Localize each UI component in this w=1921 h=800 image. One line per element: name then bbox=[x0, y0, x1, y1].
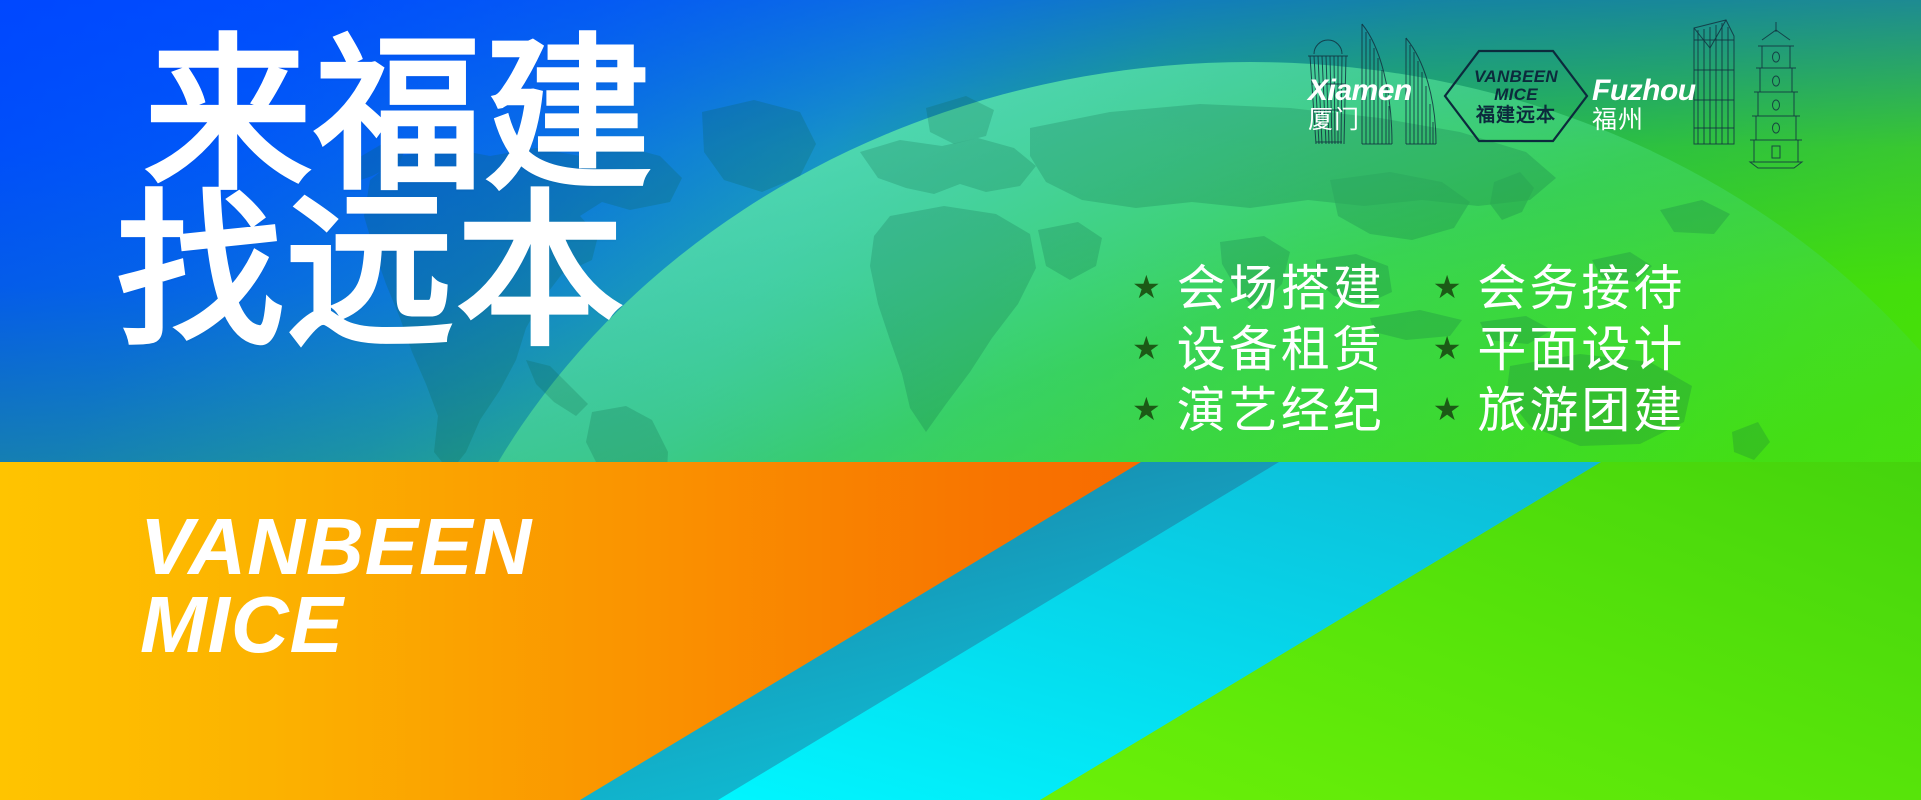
service-label-5: 演艺经纪 bbox=[1177, 384, 1385, 439]
city-xiamen-cn: 厦门 bbox=[1308, 108, 1412, 133]
city-logo-strip: Xiamen 厦门 VANBEEN MICE 福建远本 Fuzhou 福州 bbox=[1300, 6, 1860, 174]
promo-banner: 来福建 找远本 bbox=[0, 0, 1921, 800]
service-item-1: ★ 会场搭建 bbox=[1132, 262, 1385, 317]
services-list: ★ 会场搭建 ★ 会务接待 ★ 设备租赁 ★ 平面设计 ★ 演艺经纪 ★ 旅游团… bbox=[1132, 262, 1685, 439]
service-label-3: 设备租赁 bbox=[1177, 323, 1385, 378]
star-icon: ★ bbox=[1433, 393, 1462, 425]
service-label-6: 旅游团建 bbox=[1477, 384, 1685, 439]
headline: 来福建 找远本 bbox=[116, 38, 654, 350]
hex-line-3: 福建远本 bbox=[1476, 106, 1556, 125]
bottom-brand-band: VANBEEN MICE bbox=[0, 462, 1921, 800]
city-fuzhou-en: Fuzhou bbox=[1592, 76, 1696, 106]
service-item-3: ★ 设备租赁 bbox=[1132, 323, 1385, 378]
city-xiamen-en: Xiamen bbox=[1308, 76, 1412, 106]
city-label-xiamen: Xiamen 厦门 bbox=[1308, 76, 1412, 133]
city-fuzhou-cn: 福州 bbox=[1592, 108, 1696, 133]
star-icon: ★ bbox=[1132, 332, 1161, 364]
star-icon: ★ bbox=[1433, 332, 1462, 364]
star-icon: ★ bbox=[1132, 393, 1161, 425]
hex-line-1: VANBEEN bbox=[1474, 68, 1558, 85]
brand-wordmark: VANBEEN MICE bbox=[140, 510, 532, 663]
star-icon: ★ bbox=[1132, 271, 1161, 303]
hex-line-2: MICE bbox=[1494, 86, 1538, 103]
hexagon-logo-text: VANBEEN MICE 福建远本 bbox=[1442, 48, 1590, 144]
service-item-5: ★ 演艺经纪 bbox=[1132, 384, 1385, 439]
service-label-1: 会场搭建 bbox=[1177, 262, 1385, 317]
headline-line-2: 找远本 bbox=[116, 194, 654, 350]
fuzhou-tower-icon bbox=[1694, 20, 1734, 144]
vanbeen-hexagon-logo: VANBEEN MICE 福建远本 bbox=[1442, 48, 1590, 144]
service-item-6: ★ 旅游团建 bbox=[1433, 384, 1686, 439]
star-icon: ★ bbox=[1433, 271, 1462, 303]
service-label-2: 会务接待 bbox=[1477, 262, 1685, 317]
banner-main-stage: 来福建 找远本 bbox=[0, 0, 1921, 462]
headline-line-1: 来福建 bbox=[116, 38, 654, 194]
service-item-2: ★ 会务接待 bbox=[1433, 262, 1686, 317]
brand-line-2: MICE bbox=[140, 588, 532, 662]
city-label-fuzhou: Fuzhou 福州 bbox=[1592, 76, 1696, 133]
brand-line-1: VANBEEN bbox=[140, 510, 532, 584]
service-item-4: ★ 平面设计 bbox=[1433, 323, 1686, 378]
fuzhou-pagoda-icon bbox=[1750, 22, 1802, 168]
service-label-4: 平面设计 bbox=[1477, 323, 1685, 378]
